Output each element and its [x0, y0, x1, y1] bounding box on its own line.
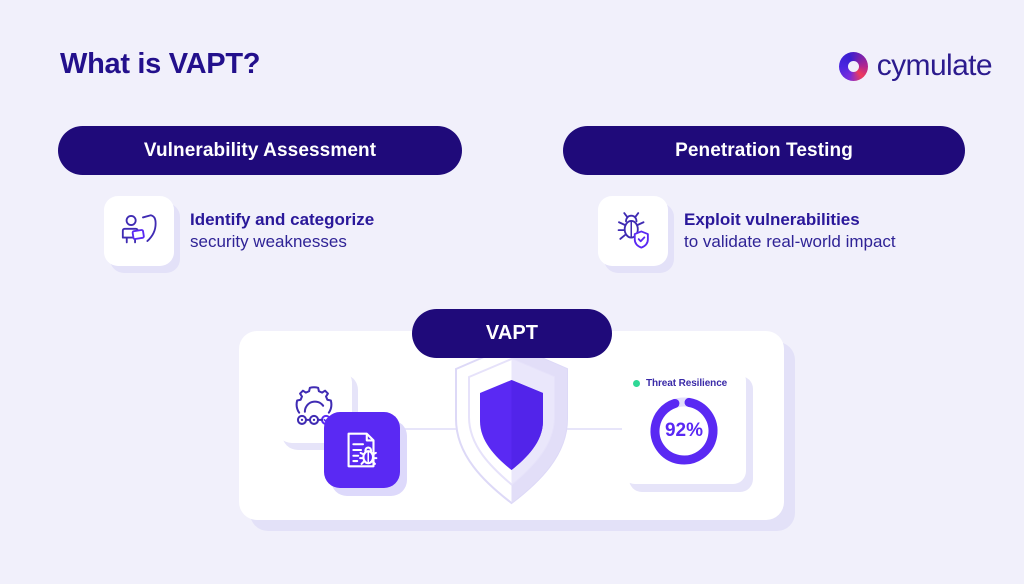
layered-shield — [450, 341, 573, 511]
page-title: What is VAPT? — [60, 48, 260, 81]
tile-face: Threat Resilience 92% — [622, 368, 746, 484]
feature-penetration-testing: Exploit vulnerabilities to validate real… — [598, 196, 896, 266]
pill-vapt: VAPT — [412, 309, 612, 358]
vapt-panel: Threat Resilience 92% — [239, 331, 795, 531]
bug-shield-check-icon — [612, 210, 654, 252]
feature-text-right: Exploit vulnerabilities to validate real… — [684, 209, 896, 254]
panel-face: Threat Resilience 92% — [239, 331, 784, 520]
icon-tile-right — [598, 196, 668, 266]
feature-vulnerability-assessment: Identify and categorize security weaknes… — [104, 196, 374, 266]
gauge-ring: 92% — [647, 394, 721, 468]
document-bug-icon — [339, 427, 385, 473]
status-dot-icon — [633, 380, 640, 387]
feature-subline-left: security weaknesses — [190, 231, 374, 253]
tile-face — [324, 412, 400, 488]
feature-headline-left: Identify and categorize — [190, 209, 374, 231]
document-bug-tile — [324, 412, 400, 488]
brand-name: cymulate — [877, 49, 992, 83]
tile-face — [598, 196, 668, 266]
gauge-header: Threat Resilience — [622, 378, 746, 389]
feature-subline-right: to validate real-world impact — [684, 231, 896, 253]
icon-tile-left — [104, 196, 174, 266]
threat-resilience-card: Threat Resilience 92% — [622, 368, 746, 484]
tile-face — [104, 196, 174, 266]
feature-headline-right: Exploit vulnerabilities — [684, 209, 896, 231]
brand-logo: cymulate — [839, 49, 992, 83]
feature-text-left: Identify and categorize security weaknes… — [190, 209, 374, 254]
gauge-value: 92% — [647, 394, 721, 468]
person-laptop-shield-icon — [118, 210, 160, 252]
pill-penetration-testing: Penetration Testing — [563, 126, 965, 175]
pill-vulnerability-assessment: Vulnerability Assessment — [58, 126, 462, 175]
gauge-label: Threat Resilience — [646, 378, 727, 389]
layered-shield-icon — [450, 341, 573, 511]
infographic-canvas: What is VAPT? cymulate Vulnerability Ass… — [0, 0, 1024, 584]
cymulate-ring-icon — [839, 52, 868, 81]
